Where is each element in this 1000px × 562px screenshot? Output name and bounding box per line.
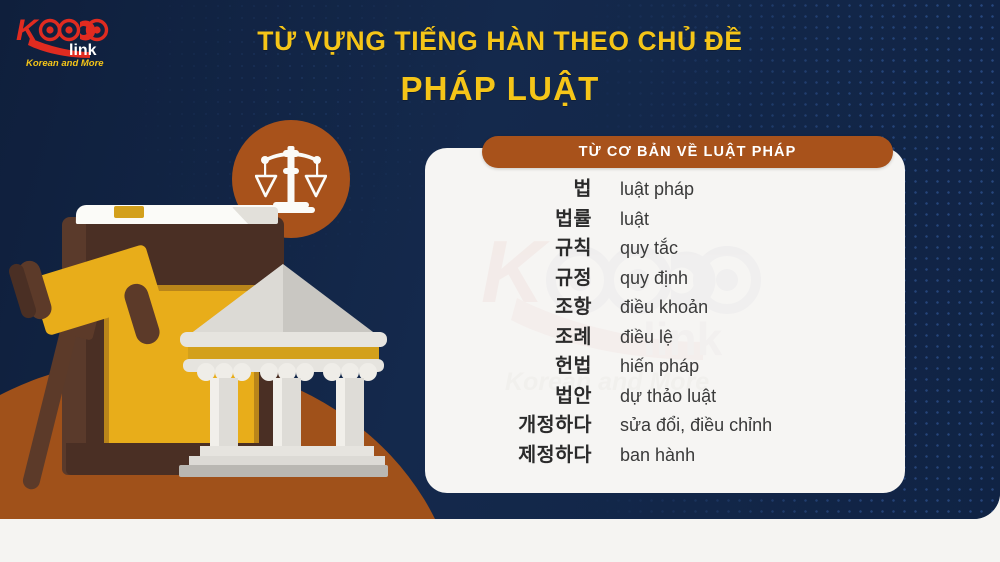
infographic-canvas: K link Korean and More TỪ VỰNG TIẾNG HÀN… — [0, 0, 1000, 562]
vocabulary-card: K link Korean and More 법 luật pháp 법률 lu — [425, 148, 905, 493]
vietnamese-meaning: quy tắc — [620, 238, 678, 259]
law-illustration — [0, 100, 470, 519]
vocabulary-row[interactable]: 헌법 hiến pháp — [425, 349, 905, 379]
gavel-handle — [21, 322, 79, 491]
page-title-line1: TỪ VỰNG TIẾNG HÀN THEO CHỦ ĐỀ — [0, 26, 1000, 57]
korean-term: 개정하다 — [425, 408, 620, 437]
korean-term: 규칙 — [425, 231, 620, 260]
vietnamese-meaning: ban hành — [620, 445, 695, 466]
book-clasp — [114, 206, 144, 218]
vietnamese-meaning: sửa đổi, điều chỉnh — [620, 415, 772, 436]
vietnamese-meaning: luật — [620, 209, 649, 230]
vocabulary-row[interactable]: 법률 luật — [425, 202, 905, 232]
vocabulary-row[interactable]: 조항 điều khoản — [425, 290, 905, 320]
korean-term: 제정하다 — [425, 438, 620, 467]
vietnamese-meaning: điều lệ — [620, 327, 673, 348]
vocabulary-row[interactable]: 법 luật pháp — [425, 172, 905, 202]
courthouse-icon — [176, 260, 391, 485]
card-banner-label: TỪ CƠ BẢN VỀ LUẬT PHÁP — [579, 144, 797, 160]
vocabulary-row[interactable]: 개정하다 sửa đổi, điều chỉnh — [425, 408, 905, 438]
vocabulary-row[interactable]: 조례 điều lệ — [425, 320, 905, 350]
logo-tagline: Korean and More — [26, 58, 104, 68]
vietnamese-meaning: luật pháp — [620, 179, 694, 200]
korean-term: 헌법 — [425, 349, 620, 378]
vocabulary-row[interactable]: 규칙 quy tắc — [425, 231, 905, 261]
korean-term: 규정 — [425, 261, 620, 290]
vietnamese-meaning: quy định — [620, 268, 688, 289]
vietnamese-meaning: hiến pháp — [620, 356, 699, 377]
korean-term: 조항 — [425, 290, 620, 319]
korean-term: 법안 — [425, 379, 620, 408]
vocabulary-row[interactable]: 규정 quy định — [425, 261, 905, 291]
vocabulary-list: 법 luật pháp 법률 luật 규칙 quy tắc 규정 quy đị… — [425, 148, 905, 493]
korean-term: 법률 — [425, 202, 620, 231]
vocabulary-row[interactable]: 법안 dự thảo luật — [425, 379, 905, 409]
vietnamese-meaning: dự thảo luật — [620, 386, 716, 407]
gavel-icon — [18, 252, 188, 482]
vietnamese-meaning: điều khoản — [620, 297, 708, 318]
korean-term: 법 — [425, 172, 620, 201]
card-banner: TỪ CƠ BẢN VỀ LUẬT PHÁP — [482, 136, 893, 168]
korean-term: 조례 — [425, 320, 620, 349]
vocabulary-row[interactable]: 제정하다 ban hành — [425, 438, 905, 468]
